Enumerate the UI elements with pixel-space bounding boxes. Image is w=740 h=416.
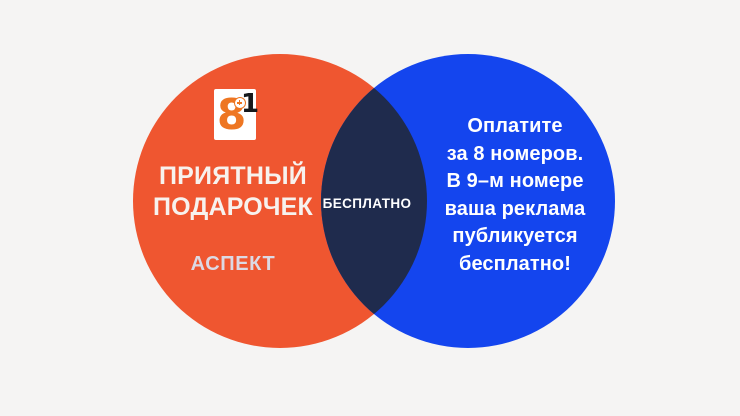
venn-diagram-stage: 8 1 ПРИЯТНЫЙ ПОДАРОЧЕК АСПЕКТ БЕСПЛАТНО … (0, 0, 740, 416)
venn-shapes (0, 0, 740, 416)
